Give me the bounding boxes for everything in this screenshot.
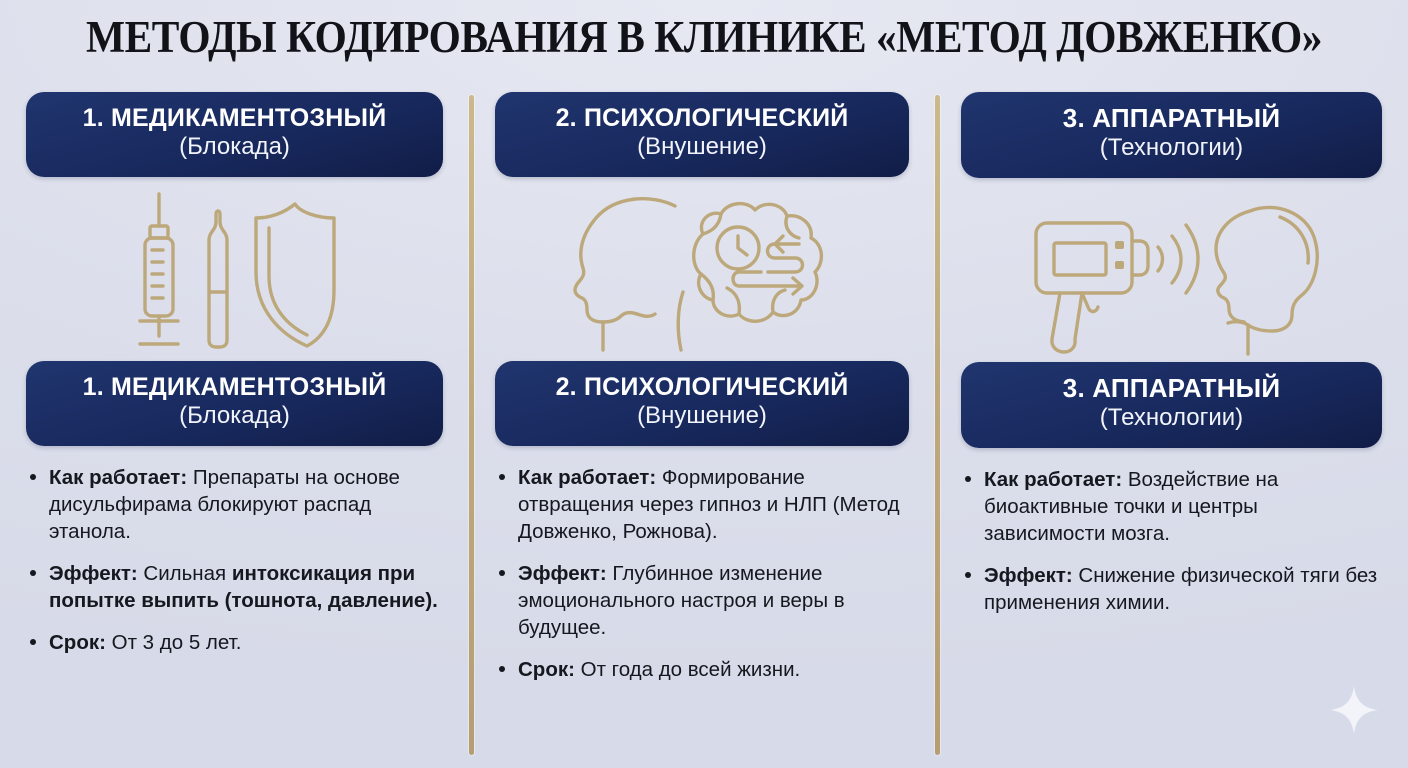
method-column-psihologicheskiy: 2. ПСИХОЛОГИЧЕСКИЙ (Внушение) bbox=[469, 92, 935, 768]
method-title-bottom-1: 1. МЕДИКАМЕНТОЗНЫЙ bbox=[40, 373, 429, 401]
method-subtitle-bottom-1: (Блокада) bbox=[40, 402, 429, 431]
bullet-label: Как работает: bbox=[518, 466, 656, 489]
bullet-text: От года до всей жизни. bbox=[575, 658, 800, 681]
list-item: Как работает: Формирование отвращения че… bbox=[495, 464, 909, 545]
method-column-apparatnyy: 3. АППАРАТНЫЙ (Технологии) bbox=[935, 92, 1408, 768]
bullet-label: Эффект: bbox=[518, 562, 607, 585]
list-item: Срок: От 3 до 5 лет. bbox=[26, 629, 443, 656]
page-title-bar: МЕТОДЫ КОДИРОВАНИЯ В КЛИНИКЕ «МЕТОД ДОВЖ… bbox=[0, 14, 1408, 61]
head-brain-clock-icon bbox=[495, 183, 909, 361]
method-subtitle-top-2: (Внушение) bbox=[509, 133, 895, 162]
list-item: Эффект: Глубинное изменение эмоционально… bbox=[495, 560, 909, 641]
method-title-top-3: 3. АППАРАТНЫЙ bbox=[975, 104, 1368, 133]
method-column-medикаментозный: 1. МЕДИКАМЕНТОЗНЫЙ (Блокада) bbox=[0, 92, 469, 768]
method-bullets-3: Как работает: Воздействие на биоактивные… bbox=[961, 466, 1382, 616]
method-header-card-top-3[interactable]: 3. АППАРАТНЫЙ (Технологии) bbox=[961, 92, 1382, 178]
bullet-text: От 3 до 5 лет. bbox=[106, 631, 241, 654]
method-header-card-bottom-2[interactable]: 2. ПСИХОЛОГИЧЕСКИЙ (Внушение) bbox=[495, 361, 909, 446]
method-header-card-bottom-3[interactable]: 3. АППАРАТНЫЙ (Технологии) bbox=[961, 362, 1382, 448]
bullet-label: Эффект: bbox=[49, 562, 138, 585]
method-title-top-1: 1. МЕДИКАМЕНТОЗНЫЙ bbox=[40, 104, 429, 132]
method-subtitle-bottom-3: (Технологии) bbox=[975, 404, 1368, 433]
method-header-card-top-2[interactable]: 2. ПСИХОЛОГИЧЕСКИЙ (Внушение) bbox=[495, 92, 909, 177]
bullet-label: Эффект: bbox=[984, 564, 1073, 587]
method-header-card-bottom-1[interactable]: 1. МЕДИКАМЕНТОЗНЫЙ (Блокада) bbox=[26, 361, 443, 446]
method-title-bottom-2: 2. ПСИХОЛОГИЧЕСКИЙ bbox=[509, 373, 895, 401]
method-subtitle-bottom-2: (Внушение) bbox=[509, 402, 895, 431]
method-subtitle-top-3: (Технологии) bbox=[975, 134, 1368, 163]
method-header-card-top-1[interactable]: 1. МЕДИКАМЕНТОЗНЫЙ (Блокада) bbox=[26, 92, 443, 177]
bullet-label: Срок: bbox=[518, 658, 575, 681]
bullet-label: Срок: bbox=[49, 631, 106, 654]
method-title-bottom-3: 3. АППАРАТНЫЙ bbox=[975, 374, 1368, 403]
bullet-label: Как работает: bbox=[984, 468, 1122, 491]
syringe-ampoule-shield-icon bbox=[26, 183, 443, 361]
page-title: МЕТОДЫ КОДИРОВАНИЯ В КЛИНИКЕ «МЕТОД ДОВЖ… bbox=[56, 14, 1351, 61]
list-item: Эффект: Снижение физической тяги без при… bbox=[961, 562, 1382, 616]
bullet-text: Сильная bbox=[138, 562, 232, 585]
device-waves-head-icon bbox=[961, 184, 1382, 362]
method-subtitle-top-1: (Блокада) bbox=[40, 133, 429, 162]
list-item: Как работает: Воздействие на биоактивные… bbox=[961, 466, 1382, 547]
methods-columns: 1. МЕДИКАМЕНТОЗНЫЙ (Блокада) bbox=[0, 92, 1408, 768]
method-bullets-1: Как работает: Препараты на основе дисуль… bbox=[26, 464, 443, 656]
list-item: Как работает: Препараты на основе дисуль… bbox=[26, 464, 443, 545]
bullet-label: Как работает: bbox=[49, 466, 187, 489]
method-title-top-2: 2. ПСИХОЛОГИЧЕСКИЙ bbox=[509, 104, 895, 132]
method-bullets-2: Как работает: Формирование отвращения че… bbox=[495, 464, 909, 683]
list-item: Срок: От года до всей жизни. bbox=[495, 656, 909, 683]
list-item: Эффект: Сильная интоксикация при попытке… bbox=[26, 560, 443, 614]
